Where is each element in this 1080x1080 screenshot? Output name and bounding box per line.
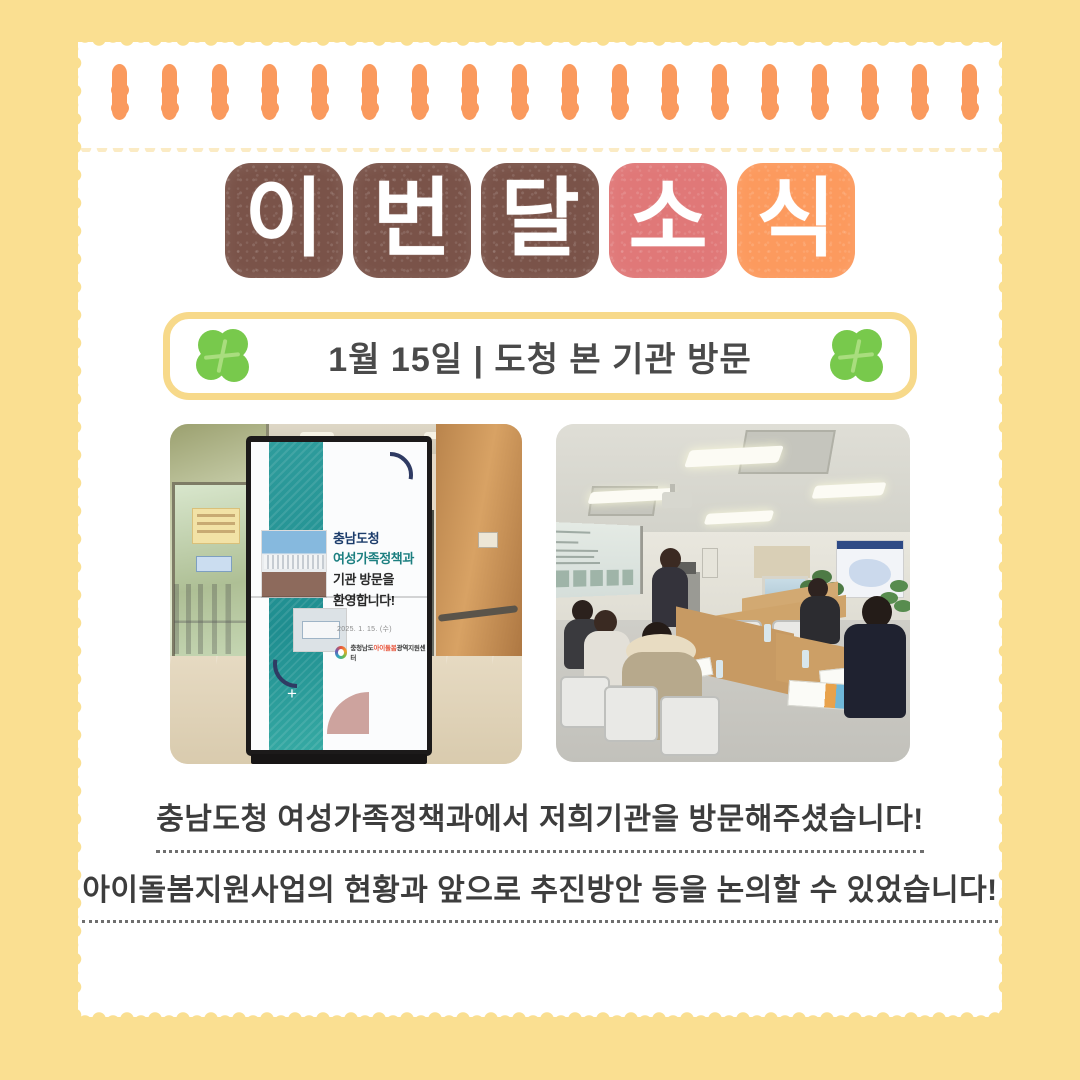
binding-ring — [212, 64, 227, 120]
binding-ring — [962, 64, 977, 120]
title-tile-3: 달 — [481, 163, 599, 278]
title-tile-glyph: 번 — [372, 176, 451, 262]
photo-digital-signage: + 충남도청 여성가족정책과 기관 방문을 환영합니다! 2025. 1. 15… — [170, 424, 522, 764]
binding-ring — [912, 64, 927, 120]
caption-text: 아이돌봄지원사업의 현황과 앞으로 추진방안 등을 논의할 수 있었습니다! — [82, 871, 997, 924]
presentation-screen — [556, 522, 643, 598]
title-tile-glyph: 이 — [244, 176, 323, 262]
binding-ring — [462, 64, 477, 120]
logo-highlight: 아이돌봄 — [373, 645, 396, 652]
binding-ring — [712, 64, 727, 120]
paper-fold-line — [80, 148, 1000, 152]
binding-ring — [412, 64, 427, 120]
binding-ring — [362, 64, 377, 120]
title-tile-glyph: 소 — [628, 176, 707, 262]
binding-ring — [512, 64, 527, 120]
title-tile-2: 번 — [353, 163, 471, 278]
signage-line-3: 기관 방문을 — [333, 569, 394, 588]
photo-meeting-room — [556, 424, 910, 762]
binding-ring — [812, 64, 827, 120]
center-logo-icon — [335, 646, 347, 659]
signage-logo: 충청남도아이돌봄광역지원센터 — [335, 642, 427, 662]
binding-ring — [612, 64, 627, 120]
binding-ring — [312, 64, 327, 120]
caption-line: 아이돌봄지원사업의 현황과 앞으로 추진방안 등을 논의할 수 있었습니다! — [78, 871, 1002, 924]
signage-plus-mark: + — [287, 685, 297, 702]
spiral-binding — [0, 0, 1080, 140]
binding-ring — [162, 64, 177, 120]
ceiling-projector — [662, 492, 692, 508]
subtitle-bar: 1월 15일 | 도청 본 기관 방문 — [163, 312, 917, 400]
title-tile-5: 식 — [737, 163, 855, 278]
digital-signage-kiosk: + 충남도청 여성가족정책과 기관 방문을 환영합니다! 2025. 1. 15… — [246, 436, 432, 756]
caption-line: 충남도청 여성가족정책과에서 저희기관을 방문해주셨습니다! — [78, 800, 1002, 853]
page-title: 이번달소식 — [0, 163, 1080, 278]
clover-icon-right — [830, 329, 884, 383]
binding-ring — [762, 64, 777, 120]
attendee-figure — [798, 578, 842, 642]
clover-icon-left — [196, 329, 250, 383]
title-tile-glyph: 식 — [756, 176, 835, 262]
binding-ring — [112, 64, 127, 120]
caption-text: 충남도청 여성가족정책과에서 저희기관을 방문해주셨습니다! — [156, 800, 924, 853]
corridor-notice-sign — [192, 508, 240, 544]
signage-line-4: 환영합니다! — [333, 590, 395, 609]
title-tile-1: 이 — [225, 163, 343, 278]
attendee-figure — [844, 596, 908, 716]
subtitle-text: 1월 15일 | 도청 본 기관 방문 — [250, 332, 830, 381]
binding-ring — [262, 64, 277, 120]
caption-block: 충남도청 여성가족정책과에서 저희기관을 방문해주셨습니다! 아이돌봄지원사업의… — [78, 800, 1002, 941]
signage-line-2: 여성가족정책과 — [333, 548, 414, 567]
title-tile-4: 소 — [609, 163, 727, 278]
binding-ring — [562, 64, 577, 120]
signage-date: 2025. 1. 15. (수) — [337, 624, 392, 634]
signage-line-1: 충남도청 — [333, 528, 379, 547]
logo-prefix: 충청남도 — [350, 645, 373, 652]
title-tile-glyph: 달 — [500, 176, 579, 262]
binding-ring — [662, 64, 677, 120]
binding-ring — [862, 64, 877, 120]
poster-canvas: 이번달소식 1월 15일 | 도청 본 기관 방문 — [0, 0, 1080, 1080]
